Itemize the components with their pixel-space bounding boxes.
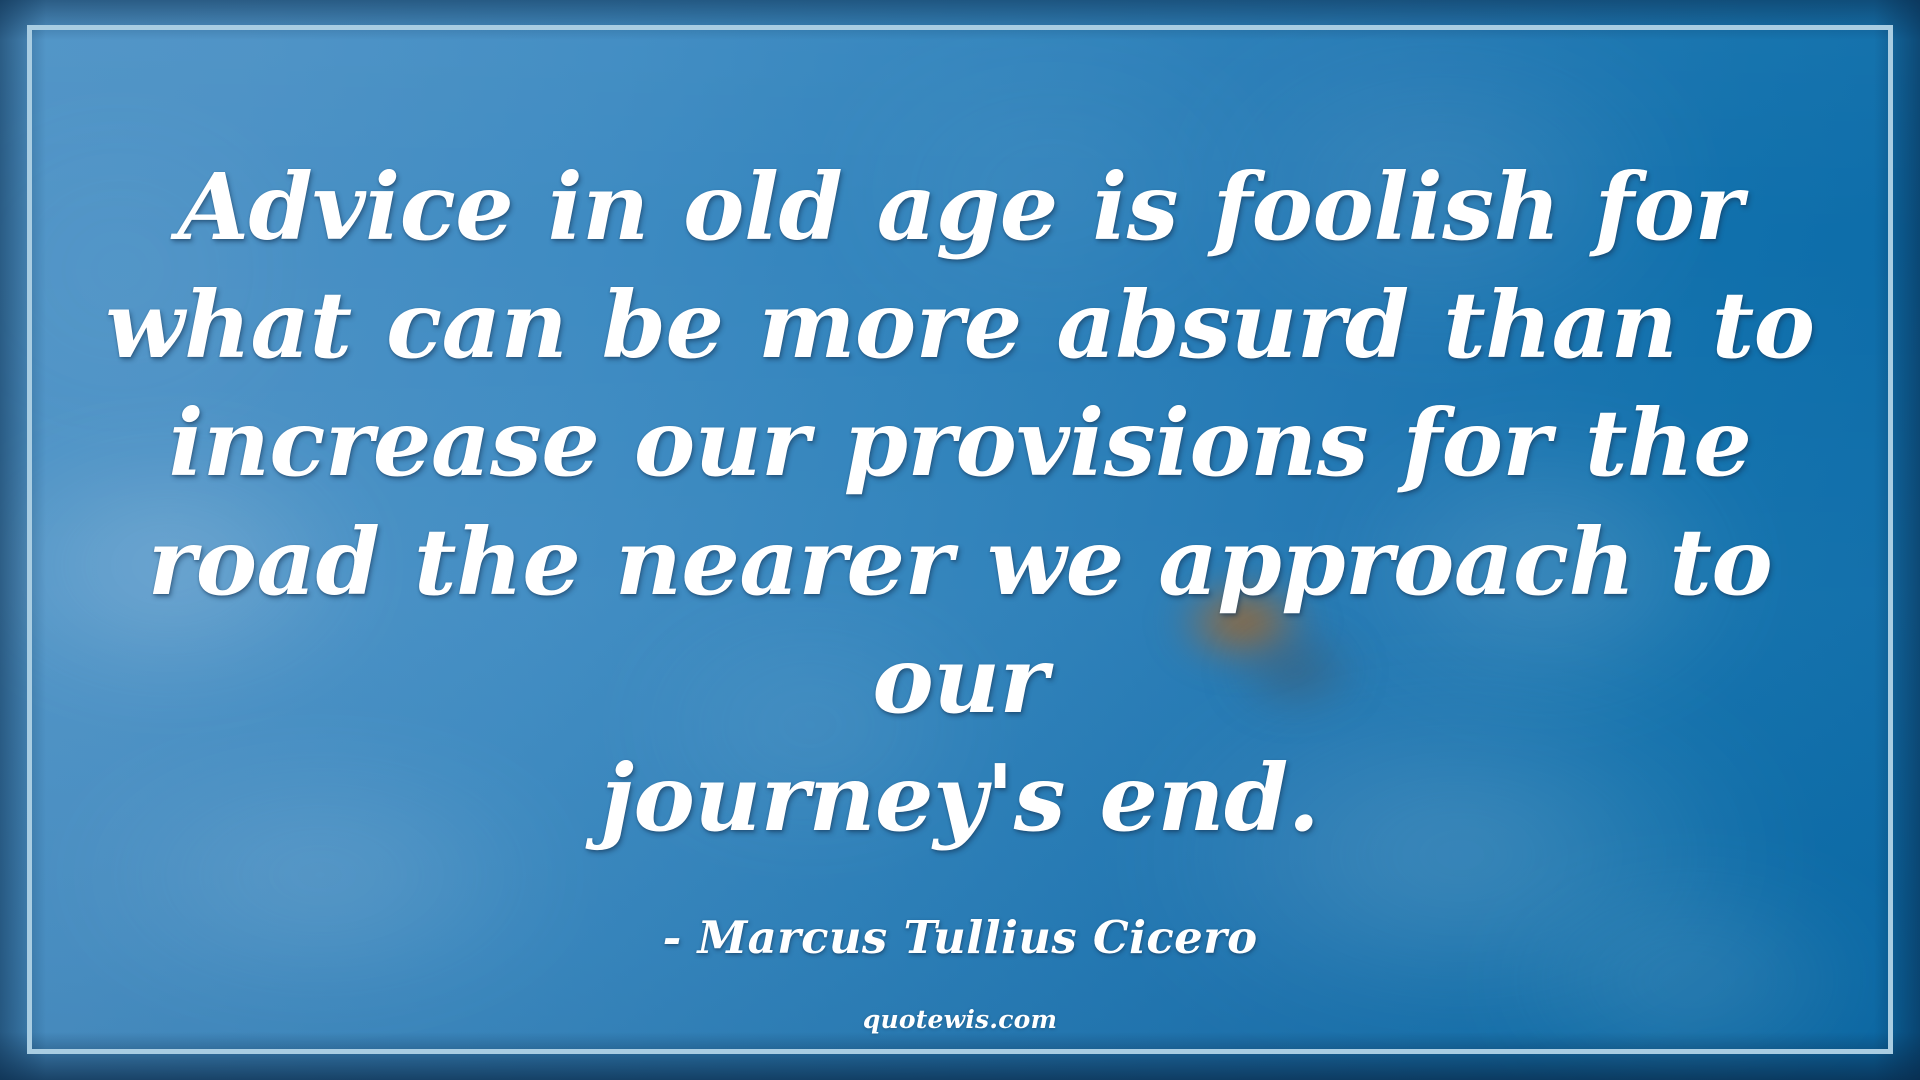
site-watermark: quotewis.com (0, 1005, 1920, 1034)
card-content: Advice in old age is foolish for what ca… (0, 0, 1920, 1080)
quote-text: Advice in old age is foolish for what ca… (65, 148, 1855, 857)
quote-attribution: - Marcus Tullius Cicero (663, 911, 1258, 964)
quote-card: Advice in old age is foolish for what ca… (0, 0, 1920, 1080)
